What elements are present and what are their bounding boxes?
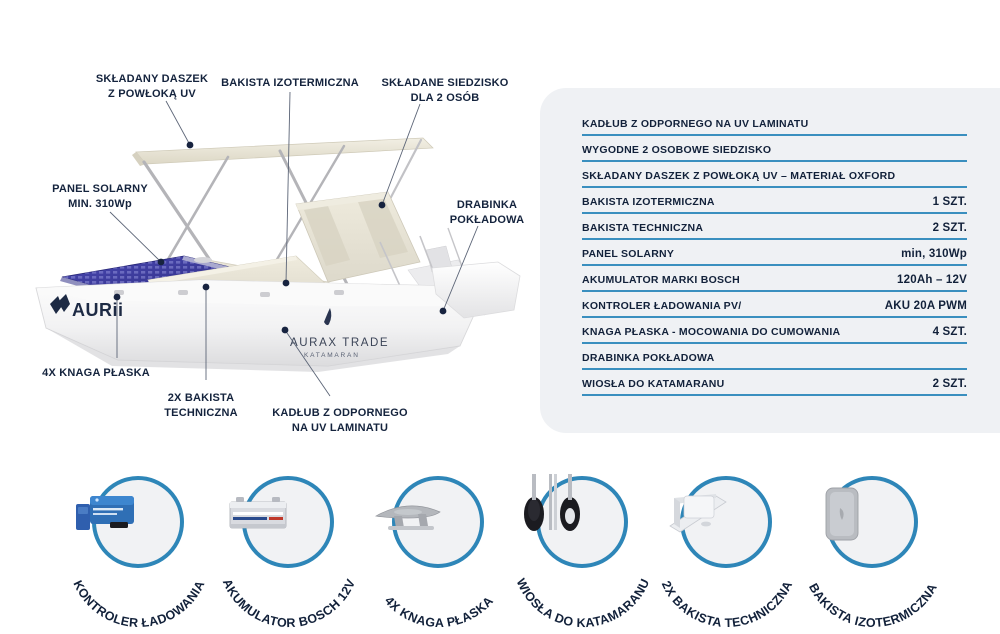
badge-label: BAKISTA IZOTERMICZNA [806, 581, 940, 628]
feature-badges: KONTROLER ŁADOWANIA AKUMULATOR BOSCH 12V [0, 468, 1000, 634]
callout-isothermal-locker: BAKISTA IZOTERMICZNA [221, 76, 359, 91]
table-row: PANEL SOLARNY min, 310Wp [582, 240, 967, 266]
spec-label: KADŁUB Z ODPORNEGO NA UV LAMINATU [582, 118, 808, 130]
specification-table: KADŁUB Z ODPORNEGO NA UV LAMINATU WYGODN… [582, 110, 967, 396]
table-row: KADŁUB Z ODPORNEGO NA UV LAMINATU [582, 110, 967, 136]
spec-value: 2 SZT. [933, 222, 967, 234]
svg-text:4X KNAGA PŁASKA: 4X KNAGA PŁASKA [382, 594, 496, 628]
table-row: KNAGA PŁASKA - MOCOWANIA DO CUMOWANIA 4 … [582, 318, 967, 344]
badge-curved-label: 4X KNAGA PŁASKA [362, 468, 522, 628]
svg-text:KATAMARAN: KATAMARAN [304, 352, 360, 359]
badge-charge-controller: KONTROLER ŁADOWANIA [62, 468, 222, 628]
spec-value: AKU 20A PWM [885, 300, 967, 312]
badge-curved-label: BAKISTA IZOTERMICZNA [796, 468, 956, 628]
badge-curved-label: 2X BAKISTA TECHNICZNA [650, 468, 810, 628]
badge-isothermal-locker: BAKISTA IZOTERMICZNA [796, 468, 956, 628]
badge-flat-cleat: 4X KNAGA PŁASKA [362, 468, 522, 628]
svg-text:2X BAKISTA TECHNICZNA: 2X BAKISTA TECHNICZNA [659, 579, 796, 628]
callout-deck-ladder: DRABINKA POKŁADOWA [450, 198, 525, 227]
spec-label: WYGODNE 2 OSOBOWE SIEDZISKO [582, 144, 771, 156]
spec-label: KNAGA PŁASKA - MOCOWANIA DO CUMOWANIA [582, 326, 840, 338]
table-row: DRABINKA POKŁADOWA [582, 344, 967, 370]
spec-label: PANEL SOLARNY [582, 248, 674, 260]
svg-text:AKUMULATOR BOSCH 12V: AKUMULATOR BOSCH 12V [220, 577, 358, 628]
table-row: BAKISTA IZOTERMICZNA 1 SZT. [582, 188, 967, 214]
svg-text:AURii: AURii [72, 300, 124, 320]
badge-curved-label: WIOSŁA DO KATAMARANU [506, 468, 666, 628]
badge-bosch-battery: AKUMULATOR BOSCH 12V [212, 468, 372, 628]
spec-label: BAKISTA IZOTERMICZNA [582, 196, 715, 208]
spec-value: 4 SZT. [933, 326, 967, 338]
badge-label: KONTROLER ŁADOWANIA [70, 578, 207, 628]
svg-text:BAKISTA IZOTERMICZNA: BAKISTA IZOTERMICZNA [806, 581, 940, 628]
spec-label: WIOSŁA DO KATAMARANU [582, 378, 724, 390]
svg-text:KONTROLER ŁADOWANIA: KONTROLER ŁADOWANIA [70, 578, 207, 628]
callout-technical-locker: 2X BAKISTA TECHNICZNA [164, 391, 238, 420]
spec-label: SKŁADANY DASZEK Z POWŁOKĄ UV – MATERIAŁ … [582, 170, 895, 182]
badge-label: WIOSŁA DO KATAMARANU [514, 576, 653, 628]
callout-uv-laminate-hull: KADŁUB Z ODPORNEGO NA UV LAMINATU [272, 406, 408, 435]
catamaran-illustration: AURii AURAX TRADE KATAMARAN [28, 110, 538, 385]
callout-solar-panel: PANEL SOLARNY MIN. 310Wp [52, 182, 148, 211]
badge-paddles: WIOSŁA DO KATAMARANU [506, 468, 666, 628]
spec-value: 120Ah – 12V [897, 274, 967, 286]
badge-label: 4X KNAGA PŁASKA [382, 594, 496, 628]
infographic-stage: AURii AURAX TRADE KATAMARAN [0, 0, 1000, 634]
spec-label: KONTROLER ŁADOWANIA PV/ [582, 300, 741, 312]
main-hull [36, 280, 478, 372]
badge-technical-locker: 2X BAKISTA TECHNICZNA [650, 468, 810, 628]
table-row: KONTROLER ŁADOWANIA PV/ AKU 20A PWM [582, 292, 967, 318]
callout-folding-canopy: SKŁADANY DASZEK Z POWŁOKĄ UV [96, 72, 208, 101]
badge-label: 2X BAKISTA TECHNICZNA [659, 579, 796, 628]
badge-curved-label: AKUMULATOR BOSCH 12V [212, 468, 372, 628]
table-row: WIOSŁA DO KATAMARANU 2 SZT. [582, 370, 967, 396]
spec-label: AKUMULATOR MARKI BOSCH [582, 274, 740, 286]
badge-curved-label: KONTROLER ŁADOWANIA [62, 468, 222, 628]
table-row: SKŁADANY DASZEK Z POWŁOKĄ UV – MATERIAŁ … [582, 162, 967, 188]
table-row: WYGODNE 2 OSOBOWE SIEDZISKO [582, 136, 967, 162]
callout-folding-seat: SKŁADANE SIEDZISKO DLA 2 OSÓB [381, 76, 508, 105]
specification-panel: KADŁUB Z ODPORNEGO NA UV LAMINATU WYGODN… [540, 88, 1000, 433]
svg-text:WIOSŁA DO KATAMARANU: WIOSŁA DO KATAMARANU [514, 576, 653, 628]
callout-flat-cleat: 4X KNAGA PŁASKA [42, 366, 150, 381]
spec-value: min, 310Wp [901, 248, 967, 260]
spec-label: BAKISTA TECHNICZNA [582, 222, 703, 234]
badge-label: AKUMULATOR BOSCH 12V [220, 577, 358, 628]
table-row: AKUMULATOR MARKI BOSCH 120Ah – 12V [582, 266, 967, 292]
spec-value: 2 SZT. [933, 378, 967, 390]
svg-text:AURAX TRADE: AURAX TRADE [290, 337, 389, 349]
spec-label: DRABINKA POKŁADOWA [582, 352, 714, 364]
spec-value: 1 SZT. [933, 196, 967, 208]
table-row: BAKISTA TECHNICZNA 2 SZT. [582, 214, 967, 240]
